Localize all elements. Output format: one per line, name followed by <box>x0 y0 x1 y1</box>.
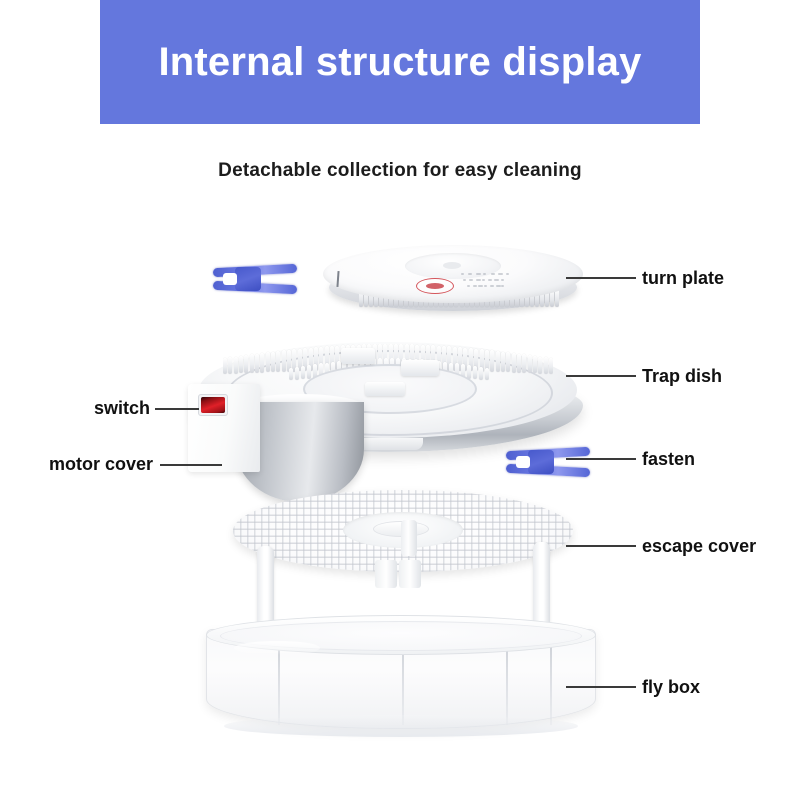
escape-cover-post <box>401 520 417 556</box>
leader-line-trap-dish <box>566 375 636 377</box>
clip-notch <box>516 456 530 468</box>
trap-dish-vane-a <box>341 348 375 364</box>
part-fly-box <box>206 615 596 740</box>
clip-notch <box>223 273 237 285</box>
label-trap-dish: Trap dish <box>642 367 722 385</box>
clip-body <box>528 450 554 474</box>
trap-dish-vane-b <box>401 360 439 376</box>
escape-cover-stem-b <box>399 560 421 588</box>
leader-line-turn-plate <box>566 277 636 279</box>
power-switch[interactable] <box>198 394 228 416</box>
header-banner: Internal structure display <box>100 0 700 124</box>
motor-cover-housing <box>188 384 260 472</box>
warning-icon <box>416 278 454 294</box>
leader-line-fly-box <box>566 686 636 688</box>
trap-dish-vane-c <box>365 382 405 396</box>
part-turn-plate <box>323 245 583 317</box>
leader-line-motor-cover <box>160 464 222 466</box>
fastener-clip-upper <box>213 262 297 296</box>
label-motor-cover: motor cover <box>49 455 153 473</box>
leader-line-fasten <box>566 458 636 460</box>
fly-box-seam <box>506 639 508 725</box>
label-switch: switch <box>94 399 150 417</box>
turn-plate-printed-text <box>461 273 531 295</box>
label-turn-plate: turn plate <box>642 269 724 287</box>
switch-led-icon <box>201 397 225 413</box>
escape-cover-stem-a <box>375 560 397 588</box>
leader-line-switch <box>155 408 199 410</box>
part-motor-cover <box>188 384 368 502</box>
fly-box-seam <box>550 639 552 725</box>
subtitle-text: Detachable collection for easy cleaning <box>0 160 800 182</box>
label-fasten: fasten <box>642 450 695 468</box>
fly-box-highlight <box>234 641 320 655</box>
page-title: Internal structure display <box>158 42 641 82</box>
part-escape-cover <box>233 490 573 630</box>
leader-line-escape-cover <box>566 545 636 547</box>
label-fly-box: fly box <box>642 678 700 696</box>
fly-box-base <box>224 715 578 737</box>
clip-body <box>235 267 261 291</box>
fastener-clip-lower <box>506 445 590 479</box>
turn-plate-center-dot <box>443 262 461 269</box>
label-escape-cover: escape cover <box>642 537 756 555</box>
